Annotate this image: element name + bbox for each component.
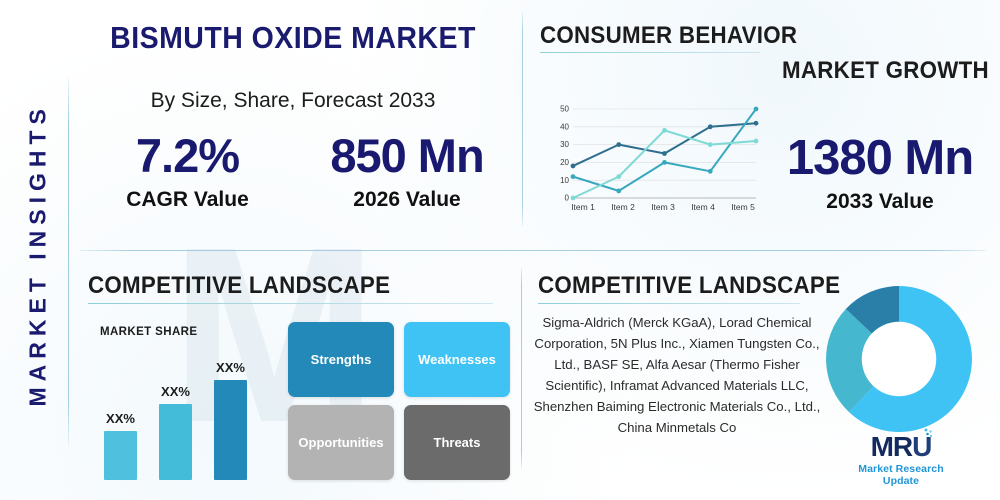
bar-rect bbox=[159, 404, 192, 480]
chart-x-tick: Item 2 bbox=[603, 202, 643, 212]
cagr-stat-block: 7.2% CAGR Value bbox=[80, 128, 295, 212]
consumer-behavior-line-chart: 01020304050 bbox=[545, 105, 760, 210]
logo-dots-icon bbox=[922, 428, 934, 442]
line-chart-svg: 01020304050 bbox=[545, 105, 760, 210]
chart-x-tick-labels: Item 1Item 2Item 3Item 4Item 5 bbox=[563, 202, 763, 212]
infographic-canvas: M MARKET INSIGHTS BISMUTH OXIDE MARKET B… bbox=[0, 0, 1000, 500]
bar-rect bbox=[214, 380, 247, 480]
competitive-landscape-right-heading: COMPETITIVE LANDSCAPE bbox=[538, 272, 840, 300]
bar-column: XX% bbox=[159, 340, 192, 480]
svg-text:50: 50 bbox=[560, 105, 569, 114]
competitive-landscape-right-underline bbox=[538, 303, 800, 304]
chart-x-tick: Item 3 bbox=[643, 202, 683, 212]
chart-x-tick: Item 5 bbox=[723, 202, 763, 212]
cagr-label: CAGR Value bbox=[80, 188, 295, 212]
logo-wordmark: MRU bbox=[871, 432, 932, 462]
chart-x-tick: Item 1 bbox=[563, 202, 603, 212]
market-insights-rail-label: MARKET INSIGHTS bbox=[25, 107, 52, 407]
left-rail-divider bbox=[68, 78, 69, 446]
chart-series bbox=[571, 107, 759, 201]
swot-box-strengths[interactable]: Strengths bbox=[288, 322, 394, 397]
page-title: BISMUTH OXIDE MARKET bbox=[86, 20, 500, 56]
svg-text:30: 30 bbox=[560, 140, 569, 149]
donut-hole bbox=[862, 322, 936, 396]
page-subtitle: By Size, Share, Forecast 2033 bbox=[68, 89, 518, 113]
mru-logo: MRU Market Research Update bbox=[845, 432, 957, 487]
consumer-behavior-underline bbox=[540, 52, 760, 53]
market-segment-donut-chart bbox=[823, 283, 975, 435]
market-share-label: MARKET SHARE bbox=[100, 326, 197, 338]
svg-text:10: 10 bbox=[560, 176, 569, 185]
forecast-year-value: 1380 Mn bbox=[760, 130, 1000, 186]
swot-box-threats[interactable]: Threats bbox=[404, 405, 510, 480]
svg-text:20: 20 bbox=[560, 158, 569, 167]
base-year-label: 2026 Value bbox=[292, 188, 522, 212]
bottom-vertical-divider bbox=[521, 268, 522, 468]
bar-column: XX% bbox=[104, 340, 137, 480]
svg-text:40: 40 bbox=[560, 122, 569, 131]
base-year-stat-block: 850 Mn 2026 Value bbox=[292, 128, 522, 212]
cagr-value: 7.2% bbox=[80, 128, 295, 184]
middle-horizontal-divider bbox=[80, 250, 986, 251]
bar-column: XX% bbox=[214, 340, 247, 480]
swot-box-opportunities[interactable]: Opportunities bbox=[288, 405, 394, 480]
forecast-year-label: 2033 Value bbox=[760, 190, 1000, 214]
company-list: Sigma-Aldrich (Merck KGaA), Lorad Chemic… bbox=[532, 312, 822, 438]
bar-value-label: XX% bbox=[106, 411, 135, 426]
chart-x-tick: Item 4 bbox=[683, 202, 723, 212]
market-growth-heading: MARKET GROWTH bbox=[782, 57, 989, 85]
market-share-bar-chart: XX%XX%XX% bbox=[104, 340, 264, 480]
bar-rect bbox=[104, 431, 137, 480]
swot-box-weaknesses[interactable]: Weaknesses bbox=[404, 322, 510, 397]
consumer-behavior-heading: CONSUMER BEHAVIOR bbox=[540, 22, 797, 50]
bar-value-label: XX% bbox=[161, 384, 190, 399]
top-vertical-divider bbox=[522, 12, 523, 226]
logo-mark-text: MR bbox=[871, 431, 913, 462]
chart-y-tick-labels: 01020304050 bbox=[560, 105, 569, 203]
base-year-value: 850 Mn bbox=[292, 128, 522, 184]
logo-subtitle: Market Research Update bbox=[845, 463, 957, 487]
bar-value-label: XX% bbox=[216, 360, 245, 375]
competitive-landscape-left-underline bbox=[88, 303, 493, 304]
swot-grid: StrengthsWeaknessesOpportunitiesThreats bbox=[288, 322, 510, 480]
competitive-landscape-left-heading: COMPETITIVE LANDSCAPE bbox=[88, 272, 390, 300]
